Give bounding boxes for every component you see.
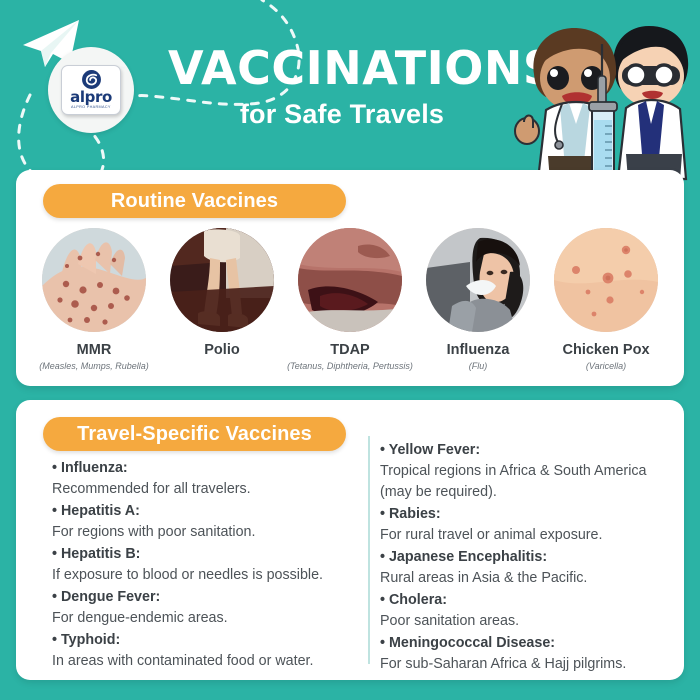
list-item[interactable]: • Hepatitis A: For regions with poor san… [52,501,340,543]
page-subtitle: for Safe Travels [168,97,516,131]
vaccine-description: Poor sanitation areas. [380,611,672,632]
vaccine-item-polio[interactable]: Polio [158,228,286,361]
header-text-block: VACCINATIONS for Safe Travels [168,44,516,131]
two-doctors-with-syringe-illustration [506,4,698,186]
vaccine-name: Influenza [447,342,510,358]
vaccine-description: For dengue-endemic areas. [52,608,340,629]
vaccine-term: • Meningococcal Disease: [380,633,672,654]
logo-tagline: ALPRO PHARMACY [71,105,111,109]
vaccine-term: • Typhoid: [52,630,340,651]
vaccine-term: • Cholera: [380,590,672,611]
travel-vaccines-columns: • Influenza: Recommended for all travele… [16,432,684,670]
vaccine-name: MMR [77,342,112,358]
tetanus-wound-photo [298,228,402,332]
routine-vaccines-list: MMR (Measles, Mumps, Rubella) [30,228,670,371]
vaccine-description: For regions with poor sanitation. [52,522,340,543]
list-item[interactable]: • Influenza: Recommended for all travele… [52,458,340,500]
vaccine-description: If exposure to blood or needles is possi… [52,565,340,586]
vaccine-name: Polio [204,342,239,358]
list-item[interactable]: • Japanese Encephalitis: Rural areas in … [380,547,672,589]
vaccine-description: Tropical regions in Africa & South Ameri… [380,461,672,503]
vaccine-note: (Varicella) [586,361,626,371]
chickenpox-skin-spots-photo [554,228,658,332]
logo-card: ™ alpro ALPRO PHARMACY [61,65,121,115]
routine-vaccines-card: Routine Vaccines [16,170,684,386]
vaccine-item-chicken-pox[interactable]: Chicken Pox (Varicella) [542,228,670,371]
logo-wordmark: alpro [70,91,112,104]
woman-sneezing-tissue-photo [426,228,530,332]
trademark-symbol: ™ [120,66,125,72]
vaccine-term: • Hepatitis A: [52,501,340,522]
vaccine-term: • Influenza: [52,458,340,479]
list-item[interactable]: • Rabies: For rural travel or animal exp… [380,504,672,546]
vaccine-name: Chicken Pox [562,342,649,358]
vaccine-item-tdap[interactable]: TDAP (Tetanus, Diphtheria, Pertussis) [286,228,414,371]
vaccine-note: (Tetanus, Diphtheria, Pertussis) [287,361,413,371]
routine-vaccines-badge: Routine Vaccines [43,184,346,218]
vaccine-note: (Flu) [469,361,488,371]
vaccine-term: • Yellow Fever: [380,440,672,461]
vaccine-description: In areas with contaminated food or water… [52,651,340,672]
measles-rash-hand-photo [42,228,146,332]
vaccine-item-mmr[interactable]: MMR (Measles, Mumps, Rubella) [30,228,158,371]
vaccine-term: • Japanese Encephalitis: [380,547,672,568]
vaccine-item-influenza[interactable]: Influenza (Flu) [414,228,542,371]
list-item[interactable]: • Hepatitis B: If exposure to blood or n… [52,544,340,586]
vaccine-description: Recommended for all travelers. [52,479,340,500]
child-legs-polio-photo [170,228,274,332]
brand-logo[interactable]: ™ alpro ALPRO PHARMACY [48,47,134,133]
list-item[interactable]: • Meningococcal Disease: For sub-Saharan… [380,633,672,675]
list-item[interactable]: • Dengue Fever: For dengue-endemic areas… [52,587,340,629]
vaccine-description: For sub-Saharan Africa & Hajj pilgrims. [380,654,672,675]
travel-vaccines-right-column: • Yellow Fever: Tropical regions in Afri… [352,432,684,670]
page-title: VACCINATIONS [168,44,516,93]
list-item[interactable]: • Cholera: Poor sanitation areas. [380,590,672,632]
infographic-poster: ™ alpro ALPRO PHARMACY VACCINATIONS for … [0,0,700,700]
travel-vaccines-left-column: • Influenza: Recommended for all travele… [16,432,352,670]
vaccine-note: (Measles, Mumps, Rubella) [39,361,149,371]
list-item[interactable]: • Yellow Fever: Tropical regions in Afri… [380,440,672,503]
vaccine-description: For rural travel or animal exposure. [380,525,672,546]
alpro-swirl-icon [81,69,102,90]
vaccine-term: • Dengue Fever: [52,587,340,608]
vaccine-term: • Hepatitis B: [52,544,340,565]
list-item[interactable]: • Typhoid: In areas with contaminated fo… [52,630,340,672]
vaccine-name: TDAP [330,342,369,358]
vaccine-term: • Rabies: [380,504,672,525]
travel-specific-vaccines-card: Travel-Specific Vaccines • Influenza: Re… [16,400,684,680]
vaccine-description: Rural areas in Asia & the Pacific. [380,568,672,589]
